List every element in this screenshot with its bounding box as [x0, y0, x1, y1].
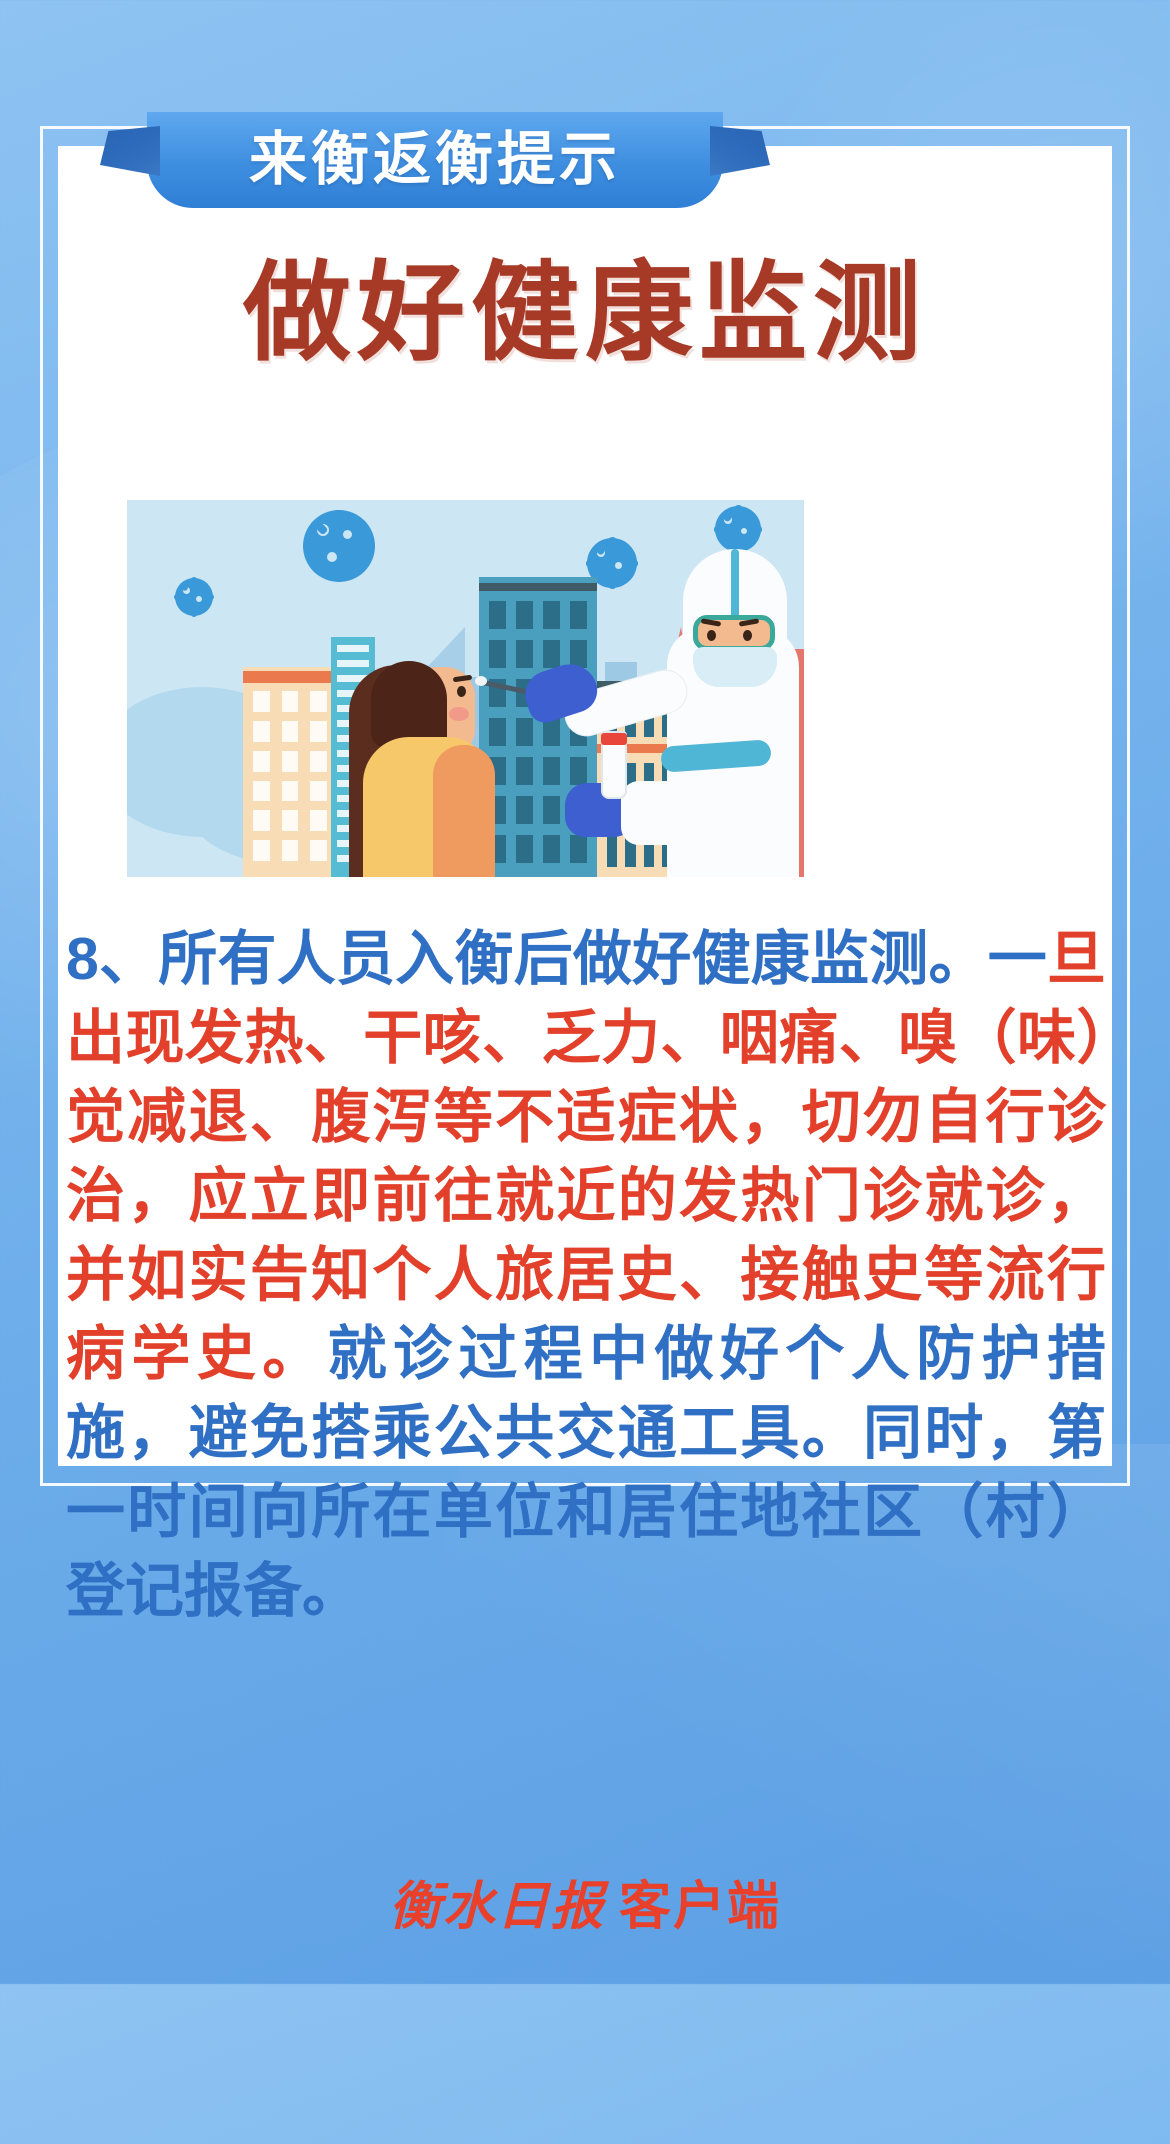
ribbon-right-icon [710, 126, 770, 176]
footer-brand: 衡水日报 [389, 1879, 605, 1936]
building-windows [253, 691, 327, 861]
footer-app: 客户端 [619, 1879, 781, 1936]
header-banner: 来衡返衡提示 [147, 112, 723, 208]
body-segment-blue-1: 8、所有人员入衡后做好健康监测。一 [66, 926, 1047, 992]
page-title: 做好健康监测 [0, 254, 1170, 373]
woman-arm [433, 745, 495, 877]
building-roof-band [243, 671, 337, 683]
doctor-arm-lower [621, 781, 717, 845]
virus-icon [715, 506, 761, 552]
virus-icon [175, 578, 213, 616]
doctor-mask [693, 647, 777, 687]
woman-hair-front [371, 661, 447, 747]
illustration-swab-test [127, 500, 804, 877]
header-banner-label: 来衡返衡提示 [249, 131, 621, 189]
ribbon-left-icon [100, 126, 160, 176]
woman-eye [457, 686, 466, 697]
building-roof-band [479, 583, 597, 591]
footer-credit: 衡水日报客户端 [0, 1864, 1170, 1939]
virus-icon [303, 510, 375, 582]
doctor-eye [743, 630, 752, 641]
woman-cheek [449, 707, 469, 721]
swab-tip [475, 676, 487, 686]
body-segment-red: 旦出现发热、干咳、乏力、咽痛、嗅（味）觉减退、腹泻等不适症状，切勿自行诊治，应立… [66, 926, 1106, 1387]
doctor-eye [707, 630, 716, 641]
header-banner-wrap: 来衡返衡提示 [0, 112, 1170, 230]
body-text: 8、所有人员入衡后做好健康监测。一旦出现发热、干咳、乏力、咽痛、嗅（味）觉减退、… [66, 920, 1106, 1631]
sample-tube-cap [601, 733, 627, 745]
